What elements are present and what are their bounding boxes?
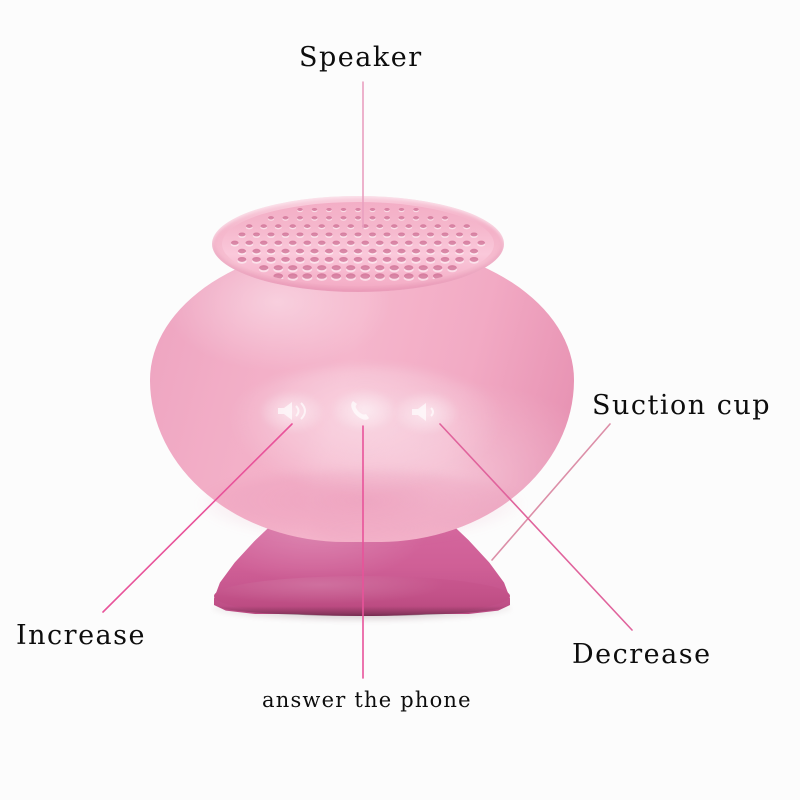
grille-hole	[333, 224, 339, 228]
grille-hole	[332, 265, 341, 270]
grille-hole	[304, 241, 311, 245]
grille-hole	[268, 216, 274, 219]
grille-hole	[420, 241, 427, 245]
label-speaker: Speaker	[299, 42, 423, 73]
grille-hole	[311, 232, 318, 236]
grille-hole	[281, 249, 289, 254]
grille-hole	[347, 241, 354, 245]
grille-hole	[340, 232, 347, 236]
grille-hole	[370, 216, 376, 219]
grille-hole	[302, 273, 312, 278]
grille-hole	[442, 232, 449, 236]
grille-hole	[413, 208, 418, 211]
grille-hole	[326, 208, 331, 211]
grille-hole	[418, 273, 428, 278]
grille-hole	[238, 249, 246, 254]
grille-hole	[326, 216, 332, 219]
grille-hole	[464, 224, 470, 228]
grille-hole	[419, 265, 428, 270]
grille-hole	[420, 224, 426, 228]
grille-hole	[304, 224, 310, 228]
grille-hole	[355, 208, 360, 211]
grille-hole	[399, 208, 404, 211]
grille-hole	[375, 273, 385, 278]
grille-hole	[361, 265, 370, 270]
grille-hole	[399, 216, 405, 219]
grille-hole	[426, 249, 434, 254]
grille-hole	[297, 216, 303, 219]
grille-hole	[325, 249, 333, 254]
grille-hole	[368, 257, 377, 262]
grille-hole	[341, 208, 346, 211]
grille-holes	[222, 202, 494, 286]
grille-hole	[433, 265, 442, 270]
grille-hole	[360, 273, 370, 278]
grille-hole	[390, 265, 399, 270]
grille-hole	[317, 265, 326, 270]
grille-hole	[455, 249, 463, 254]
grille-hole	[412, 257, 421, 262]
grille-hole	[275, 224, 281, 228]
grille-hole	[319, 224, 325, 228]
grille-hole	[383, 257, 392, 262]
grille-hole	[283, 216, 289, 219]
grille-hole	[413, 216, 419, 219]
grille-hole	[354, 257, 363, 262]
grille-hole	[303, 265, 312, 270]
grille-hole	[297, 208, 302, 211]
grille-hole	[391, 241, 398, 245]
answer-button[interactable]	[344, 396, 384, 422]
grille-hole	[355, 216, 361, 219]
grille-hole	[318, 241, 325, 245]
increase-button[interactable]	[272, 398, 312, 424]
grille-hole	[449, 241, 456, 245]
grille-hole	[288, 265, 297, 270]
grille-hole	[397, 249, 405, 254]
grille-hole	[317, 273, 327, 278]
grille-hole	[355, 232, 362, 236]
grille-hole	[290, 224, 296, 228]
grille-hole	[310, 249, 318, 254]
grille-hole	[370, 208, 375, 211]
grille-hole	[354, 249, 362, 254]
grille-hole	[376, 241, 383, 245]
suction-cup-rim-edge	[216, 594, 508, 616]
grille-hole	[463, 241, 470, 245]
grille-hole	[246, 241, 253, 245]
grille-hole	[456, 232, 463, 236]
grille-hole	[470, 257, 479, 262]
grille-hole	[296, 257, 305, 262]
grille-hole	[246, 224, 252, 228]
grille-hole	[470, 249, 478, 254]
grille-hole	[282, 232, 289, 236]
grille-hole	[268, 232, 275, 236]
product-diagram: Speaker Suction cup Increase Decrease an…	[0, 0, 800, 800]
grille-hole	[339, 257, 348, 262]
grille-hole	[261, 224, 267, 228]
grille-hole	[289, 241, 296, 245]
grille-hole	[231, 241, 238, 245]
grille-hole	[368, 249, 376, 254]
grille-hole	[346, 265, 355, 270]
grille-hole	[433, 273, 443, 278]
grille-hole	[341, 216, 347, 219]
grille-hole	[383, 249, 391, 254]
grille-hole	[369, 232, 376, 236]
grille-hole	[441, 257, 450, 262]
grille-hole	[325, 257, 334, 262]
label-decrease: Decrease	[572, 639, 712, 670]
grille-hole	[253, 232, 260, 236]
grille-hole	[312, 208, 317, 211]
grille-hole	[274, 265, 283, 270]
grille-hole	[375, 265, 384, 270]
grille-hole	[448, 265, 457, 270]
grille-hole	[427, 232, 434, 236]
grille-hole	[404, 273, 414, 278]
grille-hole	[275, 241, 282, 245]
grille-hole	[273, 273, 283, 278]
grille-hole	[435, 224, 441, 228]
grille-hole	[428, 216, 434, 219]
grille-hole	[259, 265, 268, 270]
grille-hole	[455, 257, 464, 262]
grille-hole	[239, 232, 246, 236]
grille-hole	[297, 232, 304, 236]
grille-hole	[377, 224, 383, 228]
grille-hole	[362, 241, 369, 245]
grille-hole	[288, 273, 298, 278]
grille-hole	[331, 273, 341, 278]
grille-hole	[339, 249, 347, 254]
grille-hole	[348, 224, 354, 228]
grille-hole	[333, 241, 340, 245]
grille-hole	[267, 249, 275, 254]
grille-hole	[441, 249, 449, 254]
grille-hole	[252, 249, 260, 254]
grille-hole	[478, 241, 485, 245]
grille-hole	[405, 241, 412, 245]
grille-hole	[389, 273, 399, 278]
grille-hole	[434, 241, 441, 245]
grille-hole	[312, 216, 318, 219]
label-answer-the-phone: answer the phone	[262, 688, 472, 712]
grille-hole	[362, 224, 368, 228]
grille-hole	[404, 265, 413, 270]
grille-hole	[412, 249, 420, 254]
grille-hole	[406, 224, 412, 228]
grille-hole	[384, 208, 389, 211]
grille-hole	[397, 257, 406, 262]
decrease-button[interactable]	[406, 399, 446, 425]
grille-hole	[346, 273, 356, 278]
grille-hole	[426, 257, 435, 262]
grille-hole	[384, 232, 391, 236]
grille-hole	[252, 257, 261, 262]
grille-hole	[260, 241, 267, 245]
grille-hole	[238, 257, 247, 262]
grille-hole	[281, 257, 290, 262]
grille-hole	[398, 232, 405, 236]
speaker-grille	[222, 202, 494, 286]
grille-hole	[413, 232, 420, 236]
grille-hole	[449, 224, 455, 228]
label-increase: Increase	[16, 620, 146, 651]
grille-hole	[384, 216, 390, 219]
label-suction-cup: Suction cup	[592, 390, 771, 421]
grille-hole	[267, 257, 276, 262]
grille-hole	[391, 224, 397, 228]
grille-hole	[310, 257, 319, 262]
grille-hole	[442, 216, 448, 219]
grille-hole	[471, 232, 478, 236]
grille-hole	[326, 232, 333, 236]
grille-hole	[296, 249, 304, 254]
